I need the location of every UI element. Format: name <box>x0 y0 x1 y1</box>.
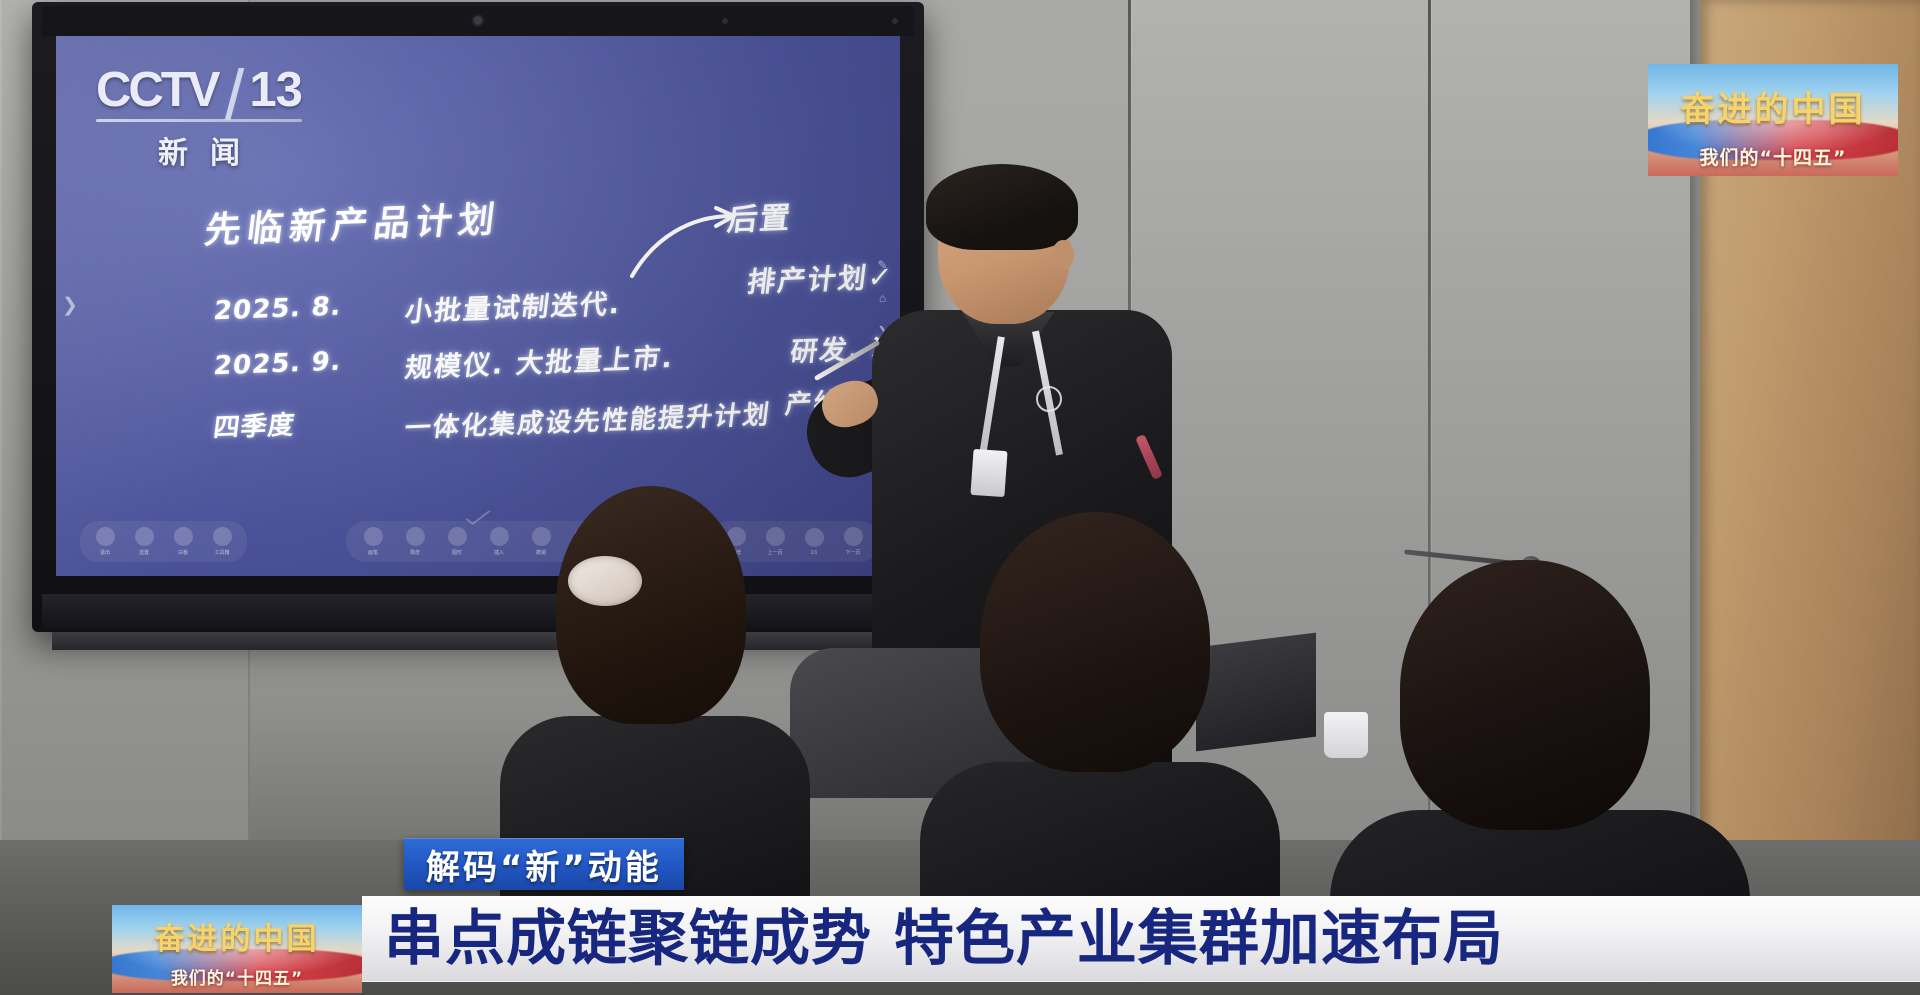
program-badge-top: 奋进的中国 我们的“十四五” <box>1648 64 1898 176</box>
channel-sub: 新闻 <box>96 128 302 172</box>
bezel-button[interactable] <box>722 18 728 24</box>
broadcast-frame: ❯ 先临新产品计划 2025. 8. 小批量试制迭代. 2025. 9. 规模仪… <box>0 0 1920 995</box>
toolbar-label: 画笔 <box>368 549 378 556</box>
toolbar-item[interactable]: 退出 <box>92 527 118 556</box>
page-counter-icon <box>805 528 824 547</box>
board-icon[interactable] <box>174 527 193 546</box>
toolbar-item[interactable]: 撤销 <box>528 527 554 556</box>
audience-hair <box>1400 560 1650 830</box>
page-counter-label: 1/1 <box>811 550 818 556</box>
toolbar-item[interactable]: 上一页 <box>762 527 788 556</box>
program-badge-bottom: 奋进的中国 我们的“十四五” <box>112 905 362 993</box>
id-badge <box>970 449 1007 497</box>
hw-row-item: 规模仪. 大批量上市. <box>403 336 677 385</box>
toolbar-item[interactable]: 下一页 <box>840 527 866 556</box>
bezel-button[interactable] <box>892 18 898 24</box>
toolbar-label: 橡皮 <box>410 549 420 556</box>
presenter-hair <box>926 164 1078 250</box>
program-title: 奋进的中国 <box>1648 82 1898 131</box>
prev-icon[interactable] <box>766 527 785 546</box>
display-chin <box>42 594 914 630</box>
toolbar-label: 退出 <box>100 549 110 556</box>
prev-page-arrow[interactable]: ❯ <box>62 294 78 317</box>
toolbar-item[interactable]: 选置 <box>131 527 157 556</box>
program-title: 奋进的中国 <box>112 914 362 958</box>
cup <box>1324 712 1368 758</box>
toolbar-item[interactable]: 插入 <box>486 527 512 556</box>
hw-arrow-target: 后置 <box>725 193 795 239</box>
toolbar-label: 白板 <box>178 549 188 556</box>
kicker-text: 解码“新”动能 <box>426 840 662 889</box>
toolbar-item[interactable]: 图形 <box>444 527 470 556</box>
toolbar-label: 撤销 <box>536 549 546 556</box>
hair-scrunchie <box>568 556 642 606</box>
toolbar-item[interactable]: 橡皮 <box>402 527 428 556</box>
hw-row-date: 四季度 <box>212 404 298 444</box>
channel-logo: CCTV 13 新闻 <box>96 62 302 172</box>
toolbar-label: 图形 <box>452 549 462 556</box>
apps-icon[interactable] <box>213 527 232 546</box>
presenter-ear <box>1052 240 1074 270</box>
lower-third-headline: 串点成链聚链成势 特色产业集群加速布局 <box>362 896 1920 982</box>
home-icon[interactable]: ⌂ <box>875 291 890 306</box>
toolbar-label: 插入 <box>494 549 504 556</box>
logo-slash-icon <box>221 68 248 120</box>
toolbar-item[interactable]: 画笔 <box>360 527 386 556</box>
channel-logo-row: CCTV 13 <box>96 62 302 118</box>
toolbar-label: 下一页 <box>845 549 860 556</box>
toolbar-label: 选置 <box>139 549 149 556</box>
display-stand <box>52 632 902 650</box>
close-icon[interactable] <box>96 527 115 546</box>
select-icon[interactable] <box>135 527 154 546</box>
hw-title: 先临新产品计划 <box>202 190 504 253</box>
toolbar-label: 上一页 <box>767 549 782 556</box>
toolbar-item[interactable]: 白板 <box>170 527 196 556</box>
hw-row-date: 2025. 8. <box>212 292 344 327</box>
logo-underline <box>96 119 302 122</box>
channel-name: CCTV <box>96 62 217 118</box>
page-counter: 1/1 <box>801 528 827 556</box>
hw-row-item: 一体化集成设先性能提升计划 <box>403 394 773 445</box>
camera-icon <box>474 16 483 25</box>
next-icon[interactable] <box>844 527 863 546</box>
audience-hair <box>980 512 1210 772</box>
program-subtitle: 我们的“十四五” <box>1648 143 1898 170</box>
laptop <box>1196 633 1316 752</box>
insert-icon[interactable] <box>490 527 509 546</box>
hw-note-1: 排产计划✓ <box>745 255 896 301</box>
pen-icon[interactable]: ✎ <box>875 258 890 273</box>
audience-hair <box>556 486 746 724</box>
program-subtitle: 我们的“十四五” <box>112 964 362 989</box>
channel-number: 13 <box>249 62 302 118</box>
hw-row-date: 2025. 9. <box>212 347 344 382</box>
lower-third-kicker: 解码“新”动能 <box>404 838 684 890</box>
headline-text: 串点成链聚链成势 特色产业集群加速布局 <box>384 908 1504 970</box>
toolbar-left[interactable]: 退出 选置 白板 工具箱 <box>80 521 247 562</box>
toolbar-item[interactable]: 工具箱 <box>209 527 235 556</box>
toolbar-label: 工具箱 <box>214 549 229 556</box>
shirt-logo <box>1036 386 1062 412</box>
hw-row-item: 小批量试制迭代. <box>403 282 624 329</box>
undo-icon[interactable] <box>532 527 551 546</box>
palette-icon[interactable] <box>364 527 383 546</box>
shape-icon[interactable] <box>448 527 467 546</box>
eraser-icon[interactable] <box>406 527 425 546</box>
